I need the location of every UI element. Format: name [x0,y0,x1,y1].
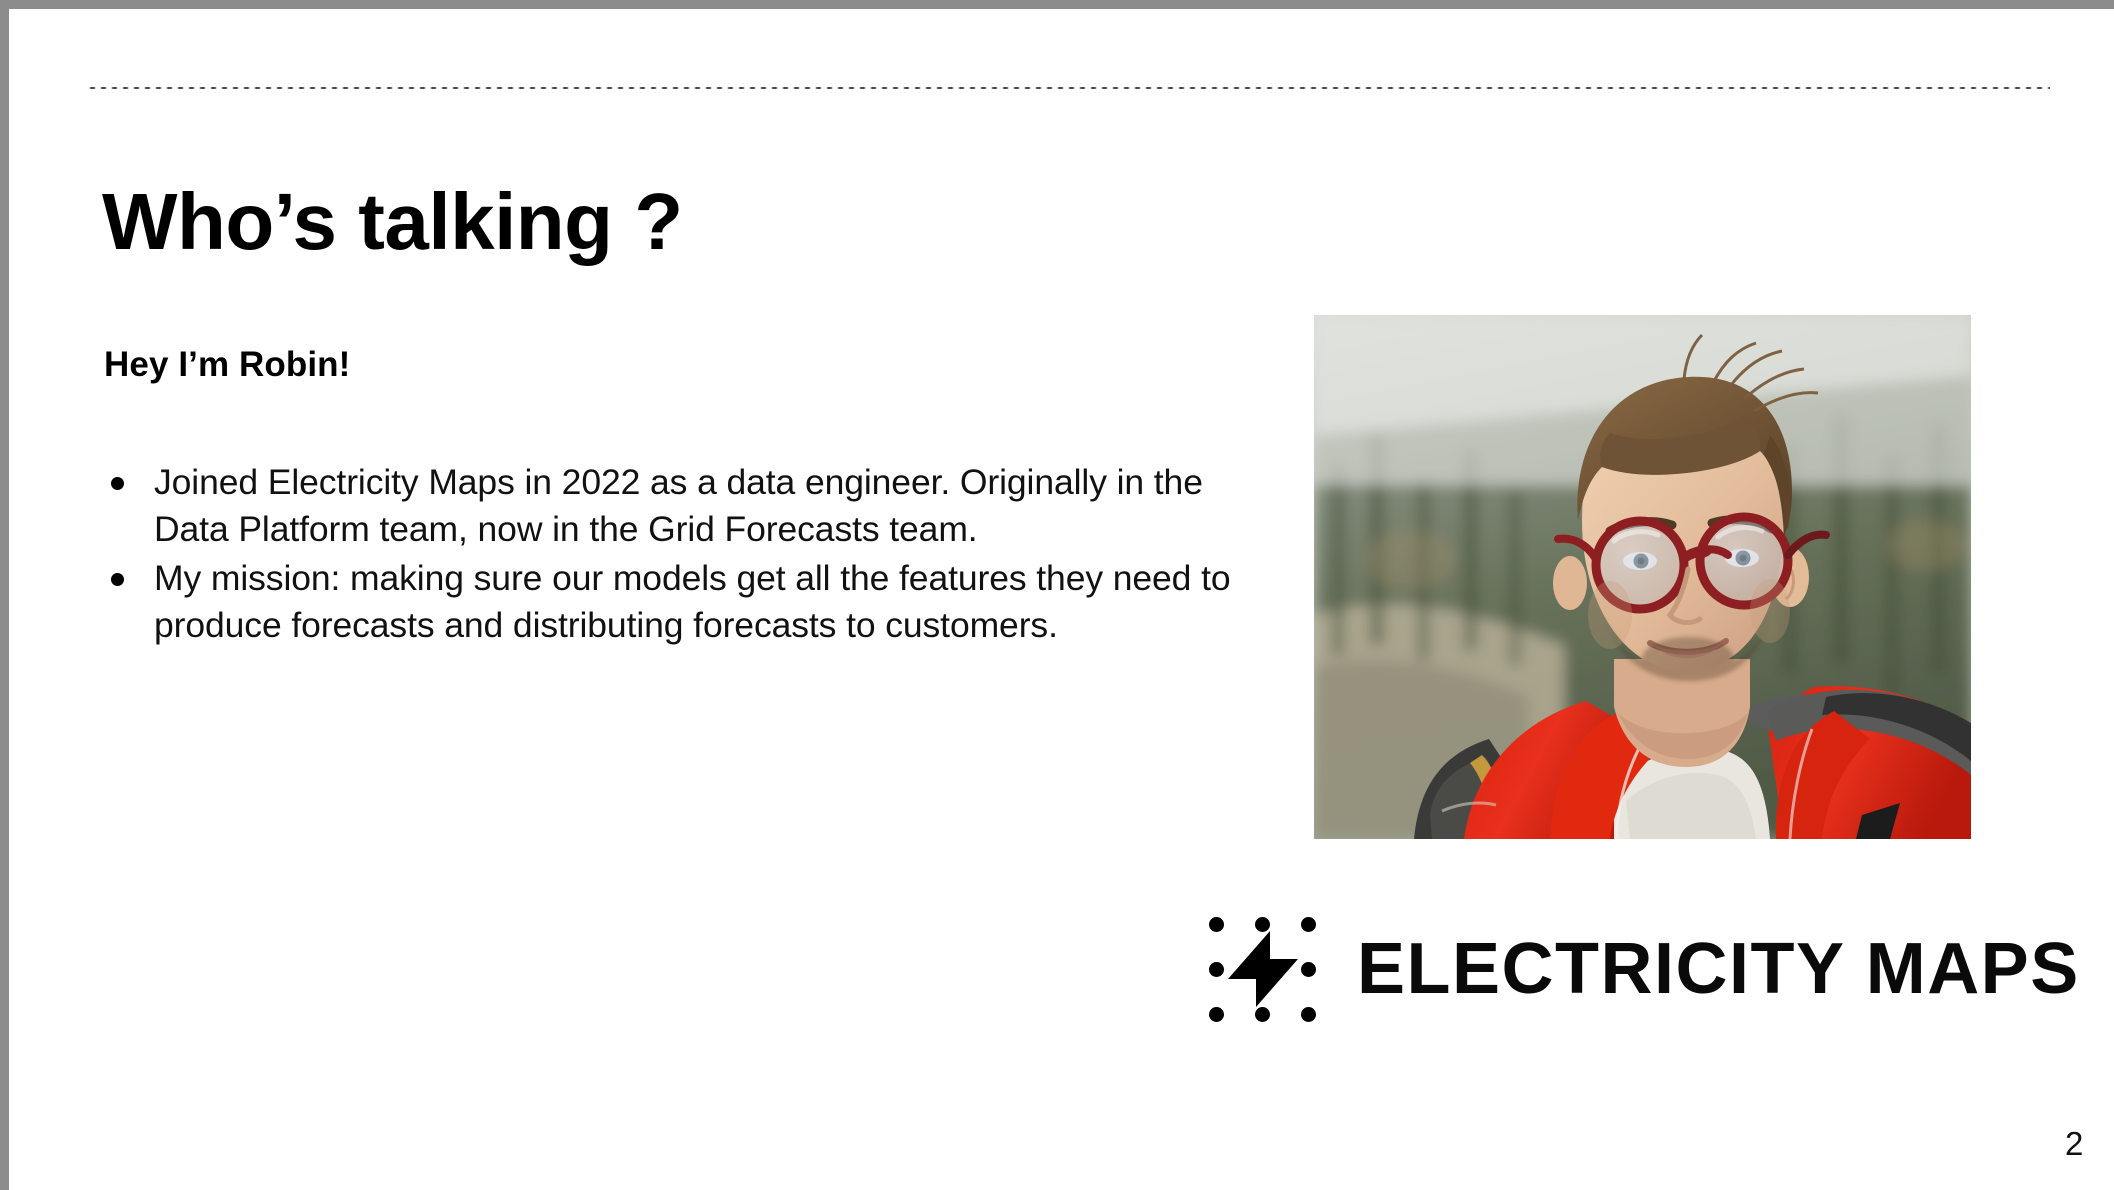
list-item: Joined Electricity Maps in 2022 as a dat… [104,459,1254,553]
list-item-text: My mission: making sure our models get a… [154,558,1231,645]
lead-line: Hey I’m Robin! [104,343,1254,387]
logo-grid-dot [1301,917,1316,932]
logo-wordmark: ELECTRICITY MAPS [1357,933,2080,1005]
speaker-photo-illustration [1314,315,1971,839]
list-item-text: Joined Electricity Maps in 2022 as a dat… [154,462,1203,549]
bullet-dot-icon [111,573,124,586]
logo-grid-dot [1209,962,1224,977]
lightning-bolt-dot-grid-icon [1205,911,1321,1027]
bullet-dot-icon [111,477,124,490]
logo-grid-dot [1301,1007,1316,1022]
electricity-maps-logo: ELECTRICITY MAPS [1205,911,2080,1027]
logo-grid-dot [1209,1007,1224,1022]
logo-grid-dot [1255,1007,1270,1022]
dotted-divider [87,86,2050,90]
body-content: Hey I’m Robin! Joined Electricity Maps i… [104,343,1254,652]
lightning-bolt-icon [1226,931,1300,1007]
logo-grid-dot [1301,962,1316,977]
list-item: My mission: making sure our models get a… [104,555,1254,649]
logo-grid-dot [1255,917,1270,932]
page-title: Who’s talking ? [102,179,683,265]
page-number: 2 [2065,1127,2083,1160]
slide-canvas: Who’s talking ? Hey I’m Robin! Joined El… [0,0,2114,1190]
speaker-photo [1314,315,1971,839]
bullet-list: Joined Electricity Maps in 2022 as a dat… [104,459,1254,650]
logo-grid-dot [1209,917,1224,932]
